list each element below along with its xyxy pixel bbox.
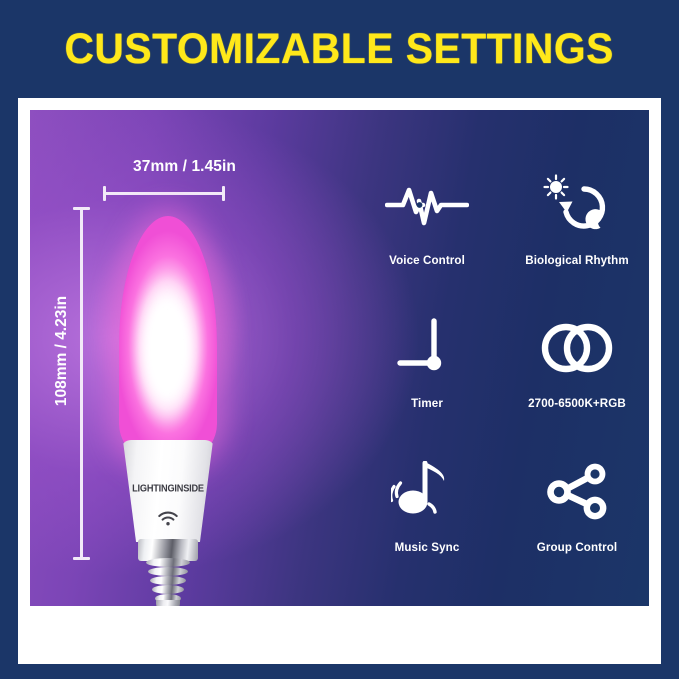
bulb-contact-tip [156, 600, 180, 606]
feature-timer: Timer [352, 289, 502, 432]
page-title: CUSTOMIZABLE SETTINGS [65, 25, 614, 74]
waveform-icon [385, 168, 469, 242]
footer-note: *Not compatible with dimmer switches tha… [30, 606, 649, 664]
feature-music-sync: Music Sync [352, 433, 502, 576]
dimension-width-label: 37mm / 1.45in [102, 158, 267, 176]
feature-label: Voice Control [389, 254, 465, 267]
footer-note-text: *Not compatible with dimmer switches tha… [91, 627, 589, 643]
music-note-icon [385, 455, 469, 529]
overlapping-rings-icon [535, 311, 619, 385]
feature-label: Biological Rhythm [525, 254, 628, 267]
screw-thread [150, 576, 186, 585]
product-bulb-image: LIGHTINGINSIDE [108, 208, 228, 568]
dimension-height-label: 108mm / 4.23in [53, 271, 71, 431]
clock-hands-icon [385, 311, 469, 385]
screw-thread [152, 585, 184, 594]
feature-voice-control: Voice Control [352, 146, 502, 289]
bulb-e14-screw-base [146, 558, 190, 604]
bulb-dome-core-glow [134, 260, 200, 440]
feature-panel: 37mm / 1.45in 108mm / 4.23in LIGHTINGINS… [30, 110, 649, 606]
screw-thread [148, 567, 188, 576]
screw-thread [146, 558, 190, 567]
wifi-icon [156, 510, 180, 528]
product-infographic: CUSTOMIZABLE SETTINGS 37mm / 1.45in 108m… [0, 0, 679, 679]
title-bar: CUSTOMIZABLE SETTINGS [0, 0, 679, 98]
bulb-brand-label: LIGHTINGINSIDE [121, 482, 215, 493]
feature-biological-rhythm: Biological Rhythm [502, 146, 649, 289]
feature-label: Timer [411, 397, 443, 410]
content-frame: 37mm / 1.45in 108mm / 4.23in LIGHTINGINS… [18, 98, 661, 664]
dimension-height-cap-bottom [73, 557, 90, 560]
feature-label: Music Sync [395, 541, 460, 554]
feature-label: Group Control [537, 541, 618, 554]
feature-color-temperature: 2700-6500K+RGB [502, 289, 649, 432]
feature-label: 2700-6500K+RGB [528, 397, 626, 410]
feature-group-control: Group Control [502, 433, 649, 576]
sun-moon-cycle-icon [535, 168, 619, 242]
feature-grid: Voice Control [352, 146, 649, 576]
share-nodes-icon [535, 455, 619, 529]
